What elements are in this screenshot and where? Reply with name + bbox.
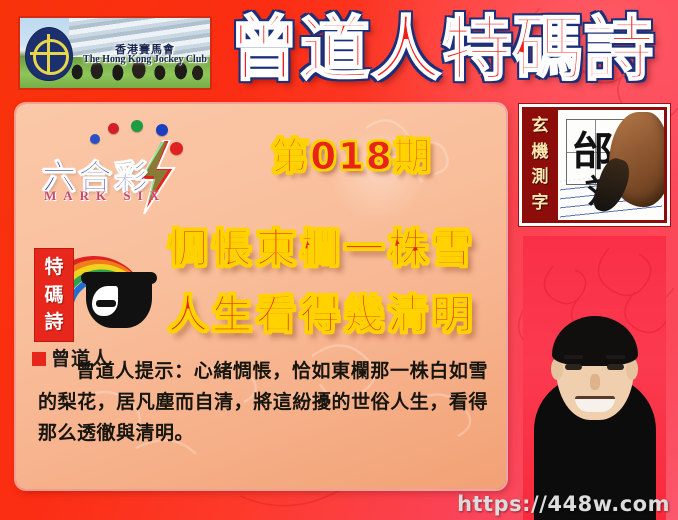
hint-paragraph: 曾道人提示：心緒惆悵，恰如東欄那一株白如雪的梨花，居凡塵而自清，將這紛擾的世俗人…: [38, 356, 488, 448]
portrait-nose: [590, 374, 600, 390]
jockey-club-name-en: The Hong Kong Jockey Club: [80, 55, 210, 65]
poem-line-1: 惆悵東欄一株雪: [144, 216, 500, 274]
hong-kong-jockey-club-logo: 香港賽馬會 The Hong Kong Jockey Club: [18, 16, 212, 90]
issue-number: 第018期: [212, 126, 492, 180]
poem-line-2: 人生看得幾清明: [144, 282, 500, 340]
header: 香港賽馬會 The Hong Kong Jockey Club 曾道人特碼詩: [0, 0, 678, 98]
xuanji-char-1: 玄: [532, 118, 549, 135]
xuanji-char-2: 機: [532, 144, 549, 161]
lottery-ball-4: [156, 124, 168, 136]
lottery-ball-3: [131, 120, 143, 132]
jockey-club-name: 香港賽馬會 The Hong Kong Jockey Club: [80, 44, 210, 65]
jockey-club-emblem-icon: [25, 27, 73, 81]
badge-char-2: 碼: [44, 286, 63, 305]
badge-char-3: 詩: [44, 313, 63, 332]
portrait-mouth: [575, 396, 615, 412]
xuanji-ceizi-label: 玄 機 測 字: [522, 107, 558, 223]
xuanji-char-4: 字: [532, 195, 549, 212]
portrait-eyebrow-left: [564, 355, 583, 359]
xuanji-char-3: 測: [532, 169, 549, 186]
portrait-photo: [523, 236, 666, 520]
portrait-eyebrow-right: [606, 355, 625, 359]
badge-char-1: 特: [44, 258, 63, 277]
calligraphy-image: 邰 刘: [558, 110, 664, 220]
site-watermark: https://448w.com: [457, 492, 670, 516]
poster-root: 香港賽馬會 The Hong Kong Jockey Club 曾道人特碼詩: [0, 0, 678, 520]
te-ma-shi-vertical-banner: 特 碼 詩: [34, 248, 74, 342]
lottery-ball-1: [90, 134, 100, 144]
portrait-eye-right: [607, 364, 624, 370]
cauldron-icon: [86, 278, 152, 328]
page-title: 曾道人特碼詩: [216, 4, 668, 96]
xuanji-ceizi-panel: 玄 機 測 字 邰 刘: [519, 104, 670, 226]
content-panel: 六合彩 MARK SIX: [16, 104, 506, 489]
mark-six-logo-en: MARK SIX: [44, 188, 166, 204]
lottery-ball-2: [108, 123, 119, 134]
portrait-eye-left: [565, 364, 582, 370]
mark-six-logo: 六合彩 MARK SIX: [38, 120, 203, 212]
